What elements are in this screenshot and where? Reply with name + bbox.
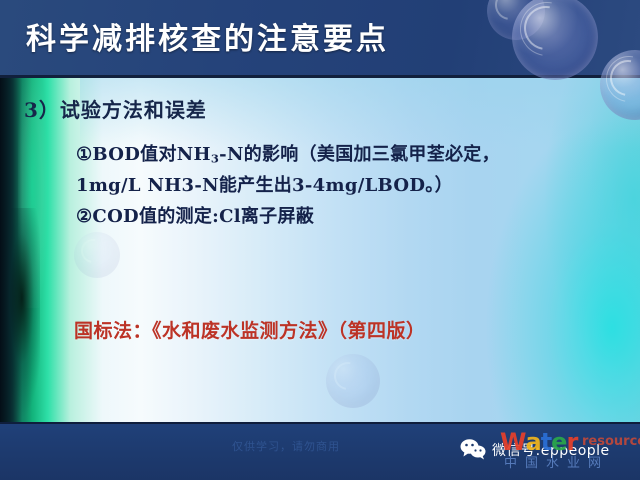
- body-line-1: ①BOD值对NH3-N的影响（美国加三氯甲荃必定，: [76, 140, 500, 166]
- body-line-2: 1mg/L NH3-N能产生出3-4mg/LBOD。）: [76, 171, 453, 197]
- body-line-3: ②COD值的测定:Cl离子屏蔽: [76, 202, 314, 228]
- brand-cluster: 微信号:eppeople Water resource 中国水业网: [460, 432, 636, 472]
- footer-band: 仅供学习，请勿商用 微信号:eppeople Water resource 中国…: [0, 422, 640, 480]
- slide-content: 3）试验方法和误差 ①BOD值对NH3-N的影响（美国加三氯甲荃必定， 1mg/…: [0, 78, 640, 422]
- body-line-1-pre: ①BOD值对NH: [76, 144, 211, 165]
- standard-method-note: 国标法：《水和废水监测方法》（第四版）: [74, 316, 426, 343]
- title-band: 科学减排核查的注意要点: [0, 0, 640, 78]
- section-heading: 3）试验方法和误差: [24, 94, 207, 123]
- wechat-account-label: 微信号:eppeople: [492, 440, 610, 460]
- disclaimer-text: 仅供学习，请勿商用: [232, 438, 340, 454]
- subscript-3: 3: [211, 152, 219, 166]
- presentation-slide: 科学减排核查的注意要点 3）试验方法和误差 ①BOD值对NH3-N的影响（美国加…: [0, 0, 640, 480]
- slide-body-background: 3）试验方法和误差 ①BOD值对NH3-N的影响（美国加三氯甲荃必定， 1mg/…: [0, 78, 640, 422]
- wechat-icon: [460, 438, 486, 460]
- body-line-1-post: -N的影响（美国加三氯甲荃必定，: [219, 144, 500, 165]
- page-title: 科学减排核查的注意要点: [26, 14, 389, 58]
